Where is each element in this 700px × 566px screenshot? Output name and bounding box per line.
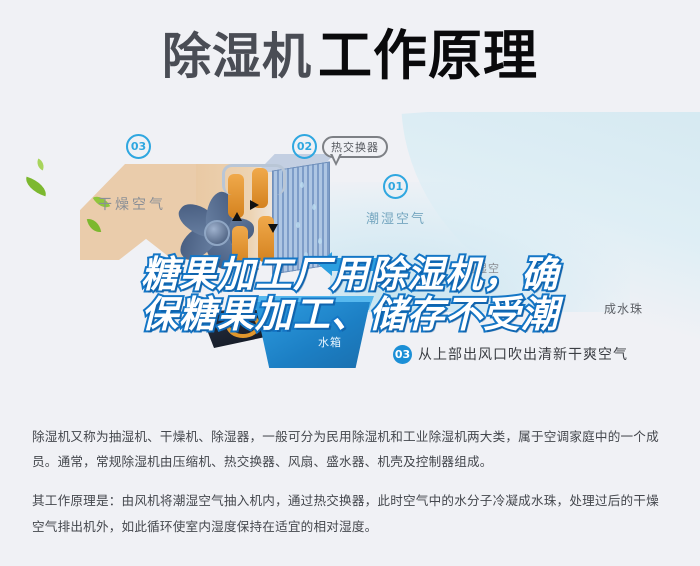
step-badge-03-solid-icon: 03 [393,345,412,364]
water-tank-label: 水箱 [318,334,342,350]
dry-air-badge: 03 [126,134,151,159]
step-badge-01-icon: 01 [383,174,408,199]
step3-caption-text: 从上部出风口吹出清新干爽空气 [418,344,628,364]
air-intake-arrow [330,258,378,271]
body-copy: 除湿机又称为抽湿机、干燥机、除湿器，一般可分为民用除湿机和工业除湿机两大类，属于… [32,424,668,553]
obscured-caption-moist: 将潮湿空 [452,260,500,276]
body-paragraph-1: 除湿机又称为抽湿机、干燥机、除湿器，一般可分为民用除湿机和工业除湿机两大类，属于… [32,424,668,474]
step-badge-02-icon: 02 [292,134,317,159]
page-title-secondary: 工作原理 [318,29,538,83]
infographic-page: 除湿机 工作原理 [0,0,700,566]
moist-air-glow [330,182,630,312]
page-title-primary: 除湿机 [162,32,312,81]
moist-air-label: 潮湿空气 [366,208,426,227]
leaf-icon [35,159,47,171]
compressor-coil-icon [226,312,260,338]
page-header: 除湿机 工作原理 [0,0,700,112]
water-tank [250,302,370,368]
step3-caption: 03 从上部出风口吹出清新干爽空气 [393,344,628,364]
callout-pointer-icon [330,154,342,166]
flow-arrow-icon [268,224,278,233]
body-paragraph-2: 其工作原理是：由风机将潮湿空气抽入机内，通过热交换器，此时空气中的水分子冷凝成水… [32,488,668,538]
flow-arrow-icon [250,264,259,274]
dry-air-label: 干燥空气 [98,194,166,214]
moist-air-badge: 01 [383,174,408,199]
obscured-caption-droplet: 成水珠 [604,300,643,317]
working-principle-diagram: 水箱 03 干燥空气 02 热交换器 01 潮湿空气 将潮湿空 成水珠 03 从… [0,112,700,408]
step-badge-03-icon: 03 [126,134,151,159]
flow-arrow-icon [250,200,259,210]
leaf-icon [23,177,50,197]
flow-arrow-icon [232,212,242,221]
